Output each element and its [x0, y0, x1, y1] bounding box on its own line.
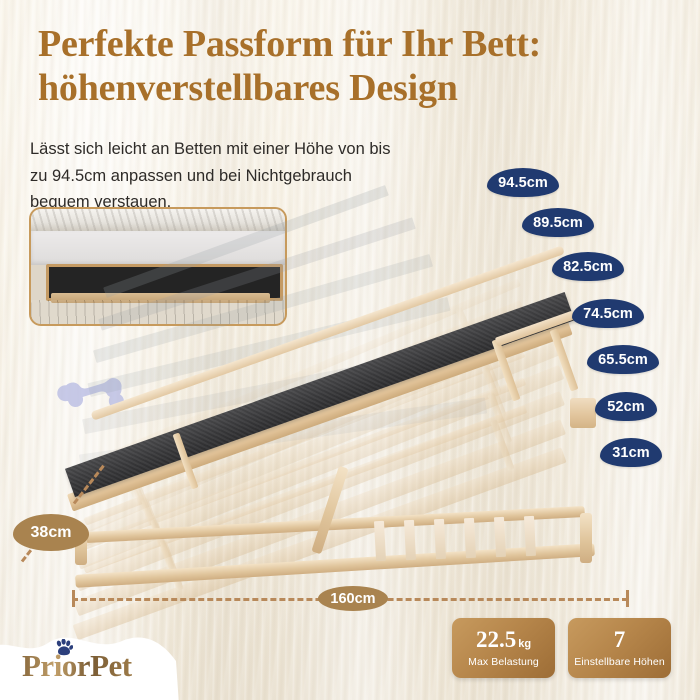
adjust-rung — [524, 516, 536, 556]
stat-caption-max-load: Max Belastung — [468, 656, 539, 668]
headline-line-2: höhenverstellbares Design — [38, 66, 668, 110]
stat-number-height-levels: 7 — [614, 628, 626, 651]
product-infographic-poster: Perfekte Passform für Ihr Bett: höhenver… — [0, 0, 700, 700]
height-badge-65-5cm[interactable]: 65.5cm — [587, 345, 659, 374]
adjust-rung — [494, 517, 506, 557]
adjust-rung — [434, 519, 446, 559]
height-badge-31cm[interactable]: 31cm — [600, 438, 662, 467]
headline-line-1: Perfekte Passform für Ihr Bett: — [38, 23, 541, 65]
height-badge-74-5cm[interactable]: 74.5cm — [572, 299, 644, 328]
base-right-end — [580, 513, 592, 563]
stat-card-max-load[interactable]: 22.5 kg Max Belastung — [452, 618, 555, 678]
adjust-rung — [464, 518, 476, 558]
height-badge-52cm[interactable]: 52cm — [595, 392, 657, 421]
length-tick-right — [626, 590, 629, 607]
ramp-product-illustration — [0, 150, 700, 600]
adjust-rung — [374, 521, 386, 561]
stat-unit-kg: kg — [518, 639, 531, 650]
spec-cards: 22.5 kg Max Belastung 7 Einstellbare Höh… — [452, 618, 671, 678]
ramp-base-frame — [75, 505, 620, 595]
width-dimension-label: 38cm — [13, 514, 89, 551]
paw-print-icon — [55, 639, 73, 656]
height-badge-82-5cm[interactable]: 82.5cm — [552, 252, 624, 281]
length-dimension-label: 160cm — [318, 586, 388, 611]
stat-card-height-levels[interactable]: 7 Einstellbare Höhen — [568, 618, 671, 678]
height-badge-89-5cm[interactable]: 89.5cm — [522, 208, 594, 237]
base-front-beam — [75, 543, 595, 588]
page-title: Perfekte Passform für Ihr Bett: höhenver… — [38, 22, 668, 111]
stat-value-row: 22.5 kg — [476, 628, 531, 651]
stat-caption-height-levels: Einstellbare Höhen — [574, 656, 665, 668]
stat-number-max-load: 22.5 — [476, 628, 516, 651]
brand-logo-text[interactable]: PriorPet — [22, 648, 132, 684]
stat-value-row: 7 — [614, 628, 626, 651]
adjust-rung — [404, 520, 416, 560]
length-tick-left — [72, 590, 75, 607]
base-rear-beam — [85, 506, 585, 543]
height-badge-94-5cm[interactable]: 94.5cm — [487, 168, 559, 197]
ramp-top-block — [570, 398, 596, 428]
